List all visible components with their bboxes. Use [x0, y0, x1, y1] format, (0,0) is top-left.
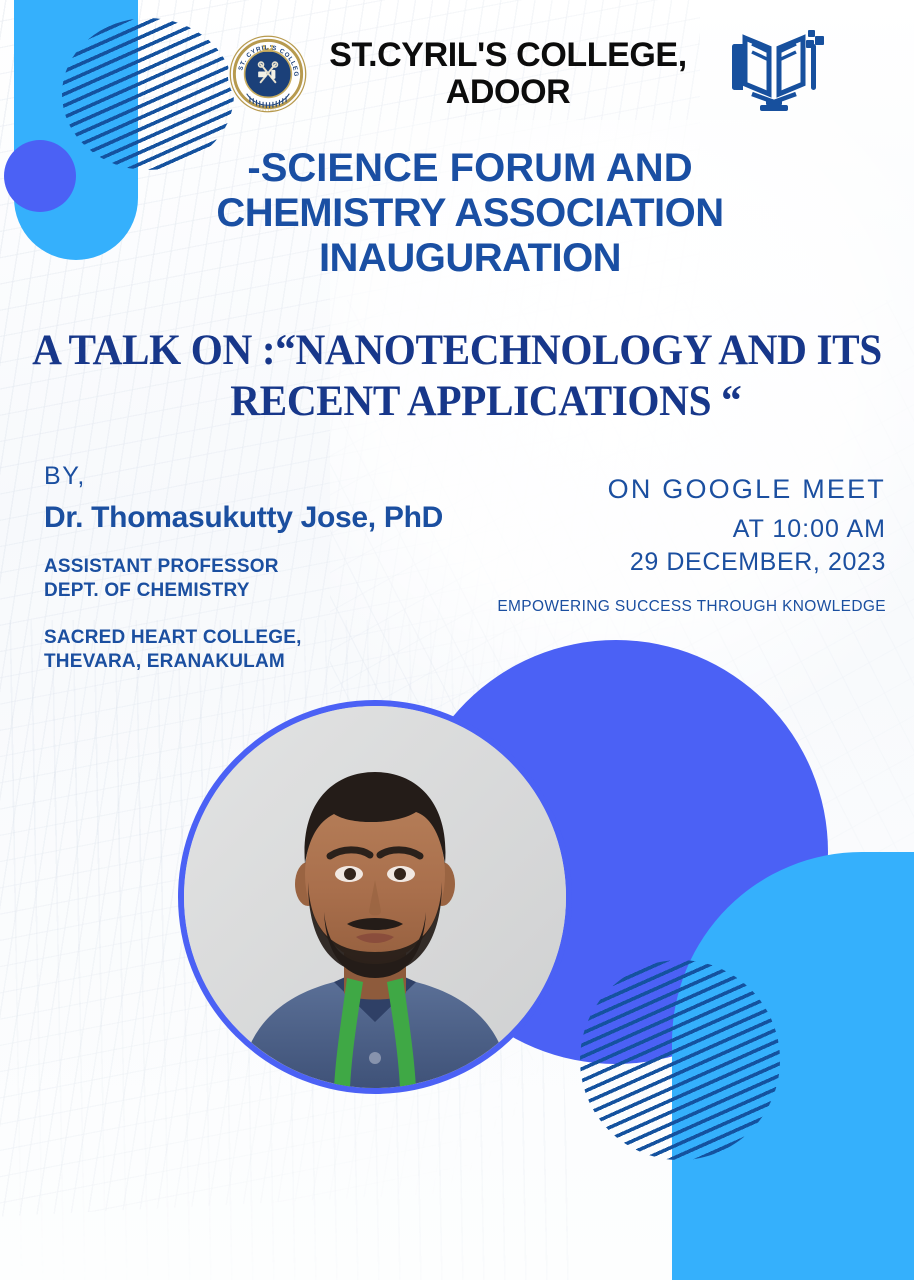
event-date: 29 DECEMBER, 2023	[486, 548, 886, 577]
event-title: -SCIENCE FORUM AND CHEMISTRY ASSOCIATION…	[120, 146, 820, 280]
striped-circle-decoration-bottom	[580, 960, 780, 1160]
event-title-line2: CHEMISTRY ASSOCIATION	[120, 191, 820, 236]
event-title-line1: -SCIENCE FORUM AND	[120, 146, 820, 191]
event-meta: ON GOOGLE MEET AT 10:00 AM 29 DECEMBER, …	[486, 474, 886, 577]
talk-title-line1: A TALK ON :“NANOTECHNOLOGY AND ITS	[32, 327, 882, 374]
svg-text:ADOOR: ADOOR	[255, 88, 281, 94]
speaker-affiliation: SACRED HEART COLLEGE, THEVARA, ERANAKULA…	[44, 626, 514, 675]
talk-title: A TALK ON :“NANOTECHNOLOGY AND ITS RECEN…	[24, 326, 890, 427]
speaker-details: BY, Dr. Thomasukutty Jose, PhD ASSISTANT…	[44, 462, 514, 674]
event-title-line3: INAUGURATION	[120, 236, 820, 281]
page-title: ST.CYRIL'S COLLEGE, ADOOR	[329, 37, 687, 110]
event-platform: ON GOOGLE MEET	[486, 474, 886, 505]
college-name-line1: ST.CYRIL'S COLLEGE,	[329, 37, 687, 74]
speaker-affiliation-line1: SACRED HEART COLLEGE,	[44, 626, 514, 650]
speaker-role-line1: ASSISTANT PROFESSOR	[44, 555, 514, 579]
event-poster: ST. CYRIL'S COLLEGE ADOOR EST 1964 ST.C	[0, 0, 914, 1280]
svg-text:EST 1964: EST 1964	[260, 109, 277, 113]
speaker-role: ASSISTANT PROFESSOR DEPT. OF CHEMISTRY	[44, 555, 514, 604]
talk-title-line2: RECENT APPLICATIONS “	[24, 377, 890, 428]
college-crest-seal-icon: ST. CYRIL'S COLLEGE ADOOR EST 1964	[227, 33, 309, 115]
speaker-portrait	[178, 700, 572, 1094]
open-book-icon	[722, 22, 826, 114]
college-name-line2: ADOOR	[329, 74, 687, 111]
speaker-affiliation-line2: THEVARA, ERANAKULAM	[44, 650, 514, 674]
tagline: EMPOWERING SUCCESS THROUGH KNOWLEDGE	[426, 598, 886, 616]
indigo-circle-decoration	[4, 140, 76, 212]
event-time: AT 10:00 AM	[486, 515, 886, 544]
speaker-by-label: BY,	[44, 462, 514, 491]
speaker-name: Dr. Thomasukutty Jose, PhD	[44, 501, 514, 535]
